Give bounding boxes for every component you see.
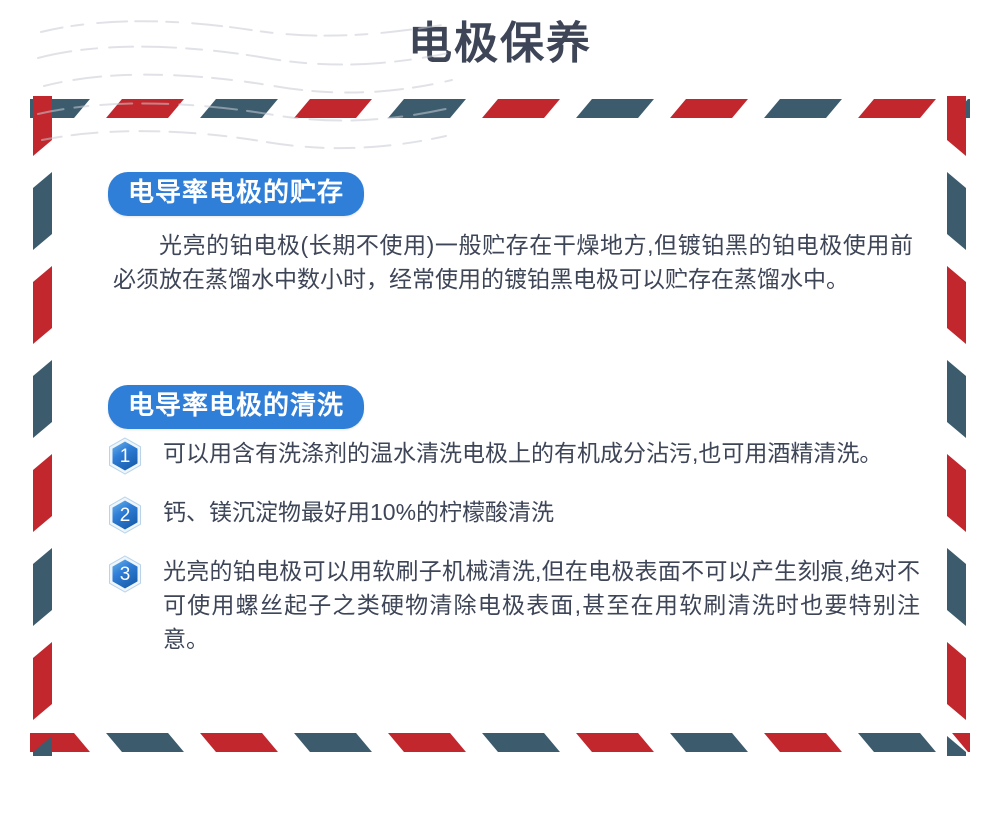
- list-item: 3 光亮的铂电极可以用软刷子机械清洗,但在电极表面不可以产生刻痕,绝对不可使用螺…: [108, 554, 920, 656]
- list-item-text: 可以用含有洗涤剂的温水清洗电极上的有机成分沾污,也可用酒精清洗。: [163, 436, 920, 470]
- list-item-text: 光亮的铂电极可以用软刷子机械清洗,但在电极表面不可以产生刻痕,绝对不可使用螺丝起…: [163, 554, 920, 656]
- content-area: 电导率电极的贮存 光亮的铂电极(长期不使用)一般贮存在干燥地方,但镀铂黑的铂电极…: [0, 0, 1000, 822]
- cleaning-steps-list: 1 可以用含有洗涤剂的温水清洗电极上的有机成分沾污,也可用酒精清洗。: [108, 436, 920, 676]
- hexagon-number-icon: 1: [108, 437, 142, 475]
- step-number: 3: [120, 564, 131, 585]
- step-number: 1: [120, 446, 131, 467]
- list-item: 1 可以用含有洗涤剂的温水清洗电极上的有机成分沾污,也可用酒精清洗。: [108, 436, 920, 475]
- step-number: 2: [120, 505, 131, 526]
- list-item: 2 钙、镁沉淀物最好用10%的柠檬酸清洗: [108, 495, 920, 534]
- section-heading-cleaning: 电导率电极的清洗: [108, 385, 364, 429]
- storage-paragraph: 光亮的铂电极(长期不使用)一般贮存在干燥地方,但镀铂黑的铂电极使用前必须放在蒸馏…: [113, 228, 913, 296]
- section-heading-storage: 电导率电极的贮存: [108, 172, 364, 216]
- infographic-page: 电极保养 电导率电极的贮存 光亮的铂电极(长期不使用)一般贮存在干燥地方,但镀铂…: [0, 0, 1000, 822]
- hexagon-number-icon: 3: [108, 555, 142, 593]
- hexagon-number-icon: 2: [108, 496, 142, 534]
- list-item-text: 钙、镁沉淀物最好用10%的柠檬酸清洗: [163, 495, 920, 529]
